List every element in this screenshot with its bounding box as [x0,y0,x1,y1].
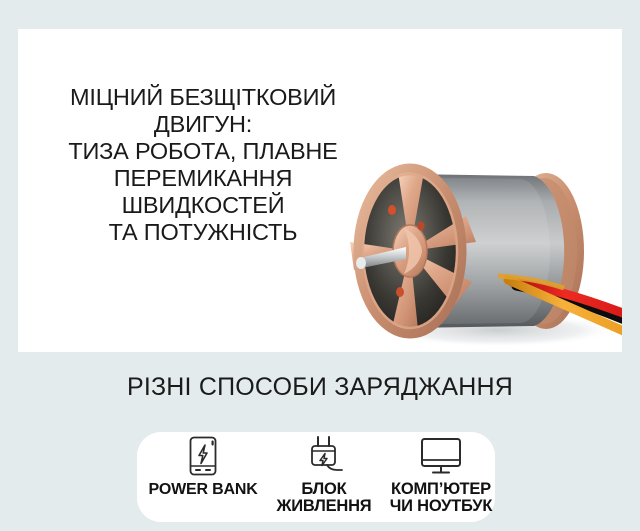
brushless-motor-image [348,154,622,352]
label-line-2: ЖИВЛЕННЯ [265,498,383,515]
label-line-1: КОМП’ЮТЕР [373,481,509,498]
charging-method-label: POWER BANK [133,481,273,498]
label-line-1: POWER BANK [133,481,273,498]
headline: МІЦНИЙ БЕЗЩІТКОВИЙ ДВИГУН: ТИЗА РОБОТА, … [28,84,378,246]
power-adapter-icon [265,432,383,478]
charging-method-computer: КОМП’ЮТЕР ЧИ НОУТБУК [373,432,509,522]
charging-method-power-adapter: БЛОК ЖИВЛЕННЯ [265,432,383,522]
headline-line-1: МІЦНИЙ БЕЗЩІТКОВИЙ [28,84,378,111]
headline-line-4: ПЕРЕМИКАННЯ [28,165,378,192]
promo-banner: МІЦНИЙ БЕЗЩІТКОВИЙ ДВИГУН: ТИЗА РОБОТА, … [0,0,640,531]
label-line-1: БЛОК [265,481,383,498]
headline-line-2: ДВИГУН: [28,111,378,138]
charging-method-label: КОМП’ЮТЕР ЧИ НОУТБУК [373,481,509,515]
charging-methods-row: POWER BANK БЛОК ЖИВЛЕН [137,432,495,522]
charging-method-label: БЛОК ЖИВЛЕННЯ [265,481,383,515]
power-bank-icon [133,432,273,478]
charging-methods-card: POWER BANK БЛОК ЖИВЛЕН [137,432,495,522]
charging-method-power-bank: POWER BANK [133,432,273,522]
headline-line-5: ШВИДКОСТЕЙ [28,192,378,219]
headline-line-3: ТИЗА РОБОТА, ПЛАВНЕ [28,138,378,165]
label-line-2: ЧИ НОУТБУК [373,498,509,515]
section-subtitle: РІЗНІ СПОСОБИ ЗАРЯДЖАННЯ [0,372,640,402]
headline-line-6: ТА ПОТУЖНІСТЬ [28,219,378,246]
hero-card: МІЦНИЙ БЕЗЩІТКОВИЙ ДВИГУН: ТИЗА РОБОТА, … [18,29,622,352]
monitor-icon [373,432,509,478]
